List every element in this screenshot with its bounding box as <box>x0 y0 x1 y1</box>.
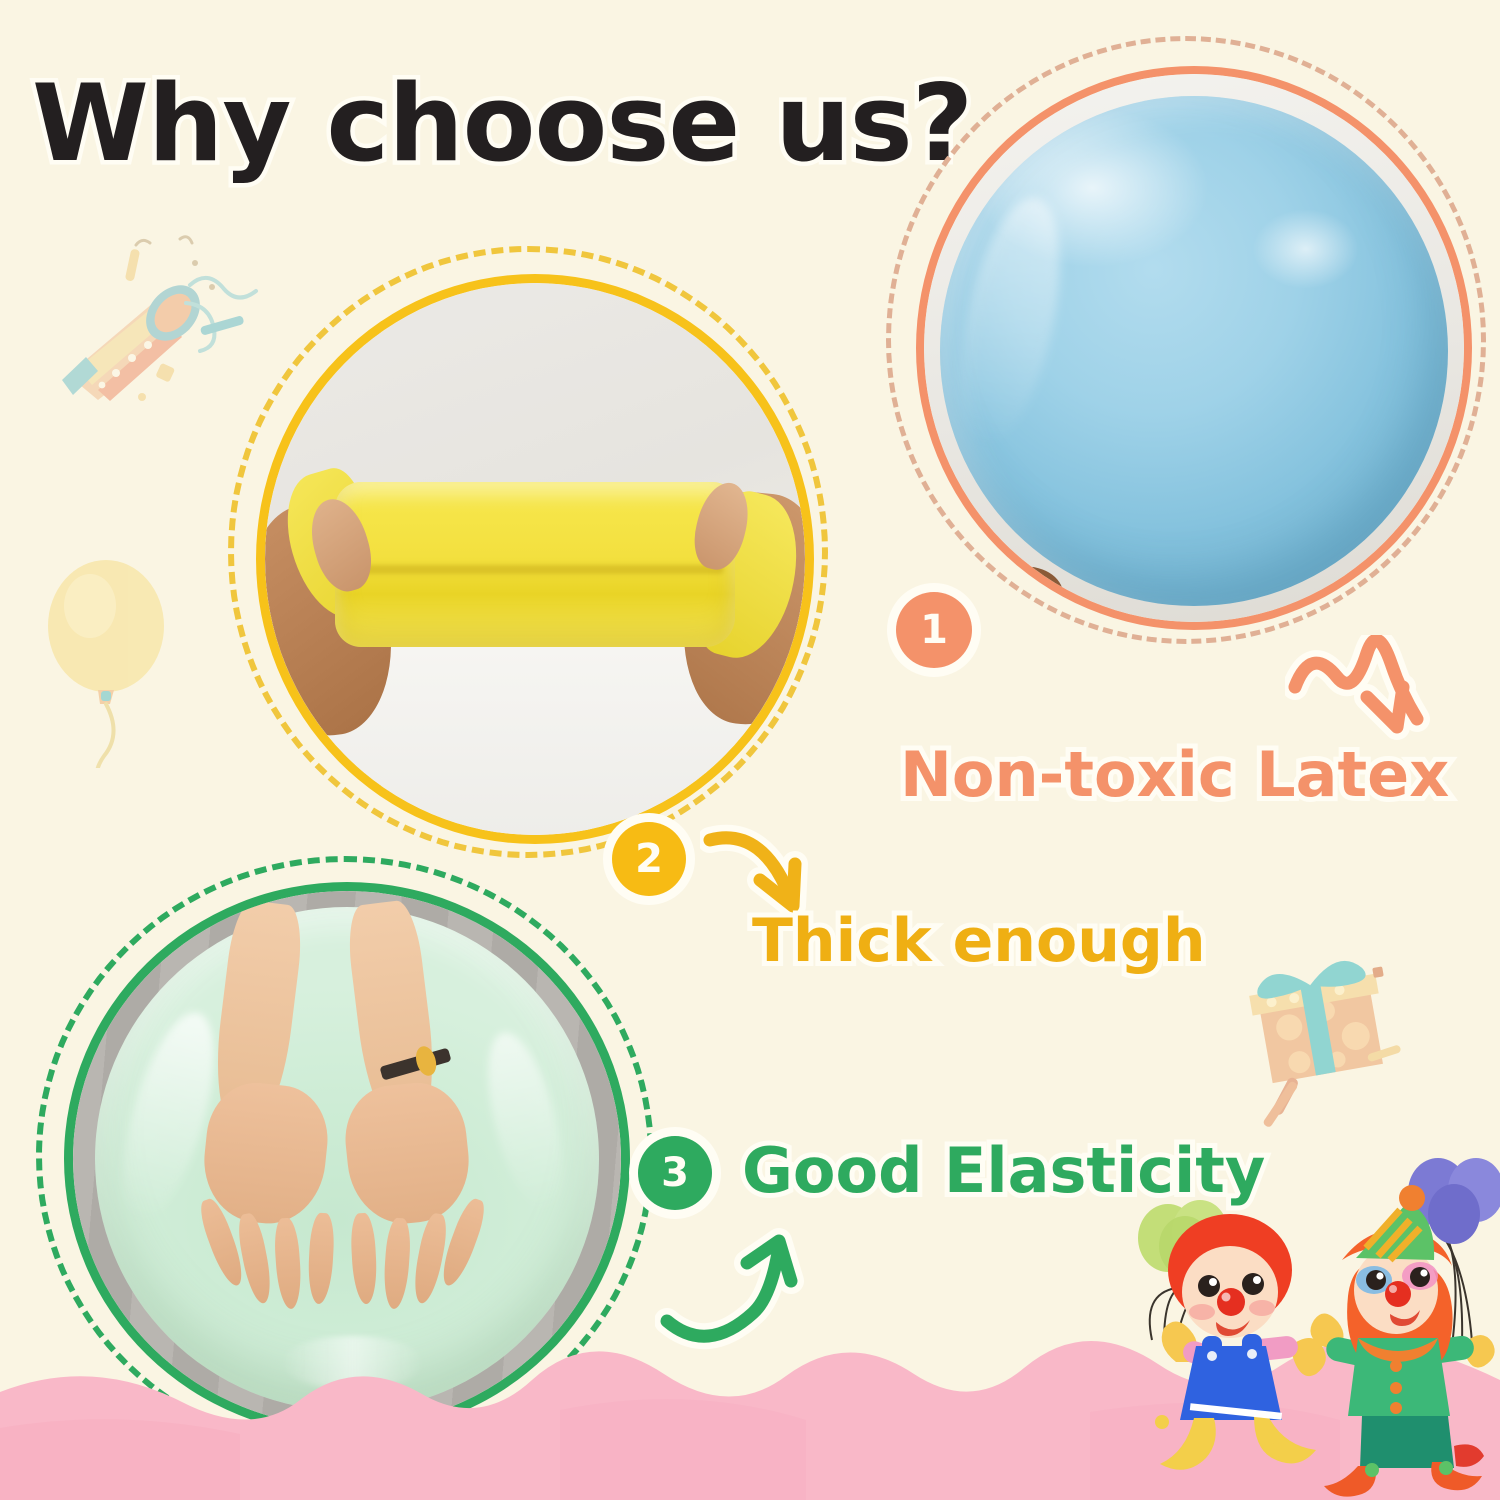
feature-label-2: Thick enough <box>752 906 1206 976</box>
photo-ring-2 <box>256 274 814 844</box>
curved-arrow-up-right-icon <box>655 1225 845 1355</box>
yellow-stretch-photo <box>265 283 805 835</box>
badge-number-2: 2 <box>635 836 663 882</box>
feature-photo-2[interactable] <box>228 246 828 858</box>
badge-number-1: 1 <box>920 607 948 653</box>
badge-number-3: 3 <box>661 1150 689 1196</box>
page-title: Why choose us? <box>32 62 972 185</box>
confetti-sticks-icon <box>1262 1070 1352 1150</box>
feature-badge-2: 2 <box>612 822 686 896</box>
blue-balloon-photo <box>924 74 1464 622</box>
clown-boy-icon <box>1155 1214 1326 1470</box>
photo-ring-1 <box>916 66 1472 630</box>
yellow-balloon-icon <box>38 548 208 768</box>
feature-photo-1[interactable] <box>886 36 1486 644</box>
clown-characters-group <box>1090 1150 1500 1500</box>
infographic-canvas: Why choose us? <box>0 0 1500 1500</box>
feature-label-1: Non-toxic Latex <box>900 738 1449 811</box>
feature-badge-3: 3 <box>638 1136 712 1210</box>
feature-badge-1: 1 <box>896 592 972 668</box>
